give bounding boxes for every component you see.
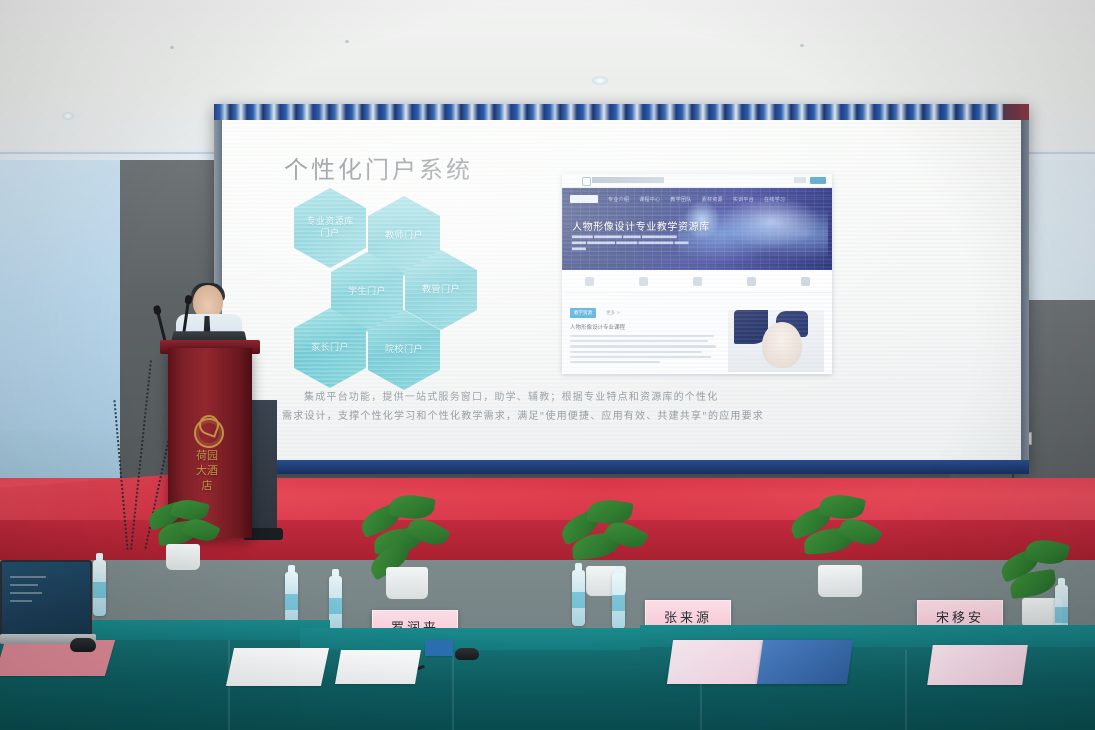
bottle-label — [612, 595, 625, 611]
screen-text-line — [10, 584, 38, 586]
website-screenshot: 专业介绍 课程中心 教学团队 素材资源 实训平台 在线学习 人物形像设计专业教学… — [562, 174, 832, 374]
bottle-label — [329, 598, 342, 614]
laptop-screen — [0, 560, 92, 640]
site-logo-icon — [582, 177, 591, 186]
website-header-bar — [562, 174, 832, 188]
document-sheet — [335, 650, 421, 684]
computer-mouse — [455, 648, 479, 660]
document-sheet — [425, 640, 453, 656]
nameplate-text: 宋移安 — [936, 607, 984, 626]
hex-label: 家长门户 — [303, 342, 357, 354]
quicklink-icon — [801, 277, 810, 286]
water-bottle — [329, 576, 342, 632]
slide-body-line-1: 集成平台功能，提供一站式服务窗口，助学、辅教；根据专业特点和资源库的个性化 — [282, 388, 962, 407]
presentation-slide: 个性化门户系统 专业资源库门户 教师门户 学生门户 教管门户 家长门户 院校门户 — [222, 120, 1021, 460]
quicklink-icon — [585, 277, 594, 286]
hero-headline: 人物形像设计专业教学资源库 — [572, 218, 710, 233]
card-body-lines — [570, 335, 720, 363]
nav-item: 实训平台 — [733, 196, 754, 203]
website-content-card: 教学资源 更多 > 人物形像设计专业课程 — [562, 293, 832, 374]
nav-item: 在线学习 — [764, 196, 785, 203]
screen-bottom-frame — [214, 460, 1029, 474]
document-booklet — [670, 640, 762, 684]
nameplate-text: 张来源 — [664, 607, 712, 626]
site-login-button — [810, 177, 826, 184]
website-nav: 专业介绍 课程中心 教学团队 素材资源 实训平台 在线学习 — [570, 195, 785, 203]
bottle-label — [93, 582, 106, 598]
slide-body-text: 集成平台功能，提供一站式服务窗口，助学、辅教；根据专业特点和资源库的个性化 需求… — [282, 388, 962, 426]
website-quicklink-icons — [562, 270, 832, 293]
hex-label: 学生门户 — [340, 286, 394, 298]
bottle-label — [285, 594, 298, 610]
hotel-logo-icon — [194, 418, 224, 448]
slide-title: 个性化门户系统 — [284, 150, 473, 185]
website-hero-banner: 专业介绍 课程中心 教学团队 素材资源 实训平台 在线学习 人物形像设计专业教学… — [562, 188, 832, 270]
portrait-face — [762, 322, 802, 368]
card-title: 人物形像设计专业课程 — [570, 323, 720, 331]
nav-item: 教学团队 — [670, 196, 691, 203]
ceiling-fixture-dot — [800, 44, 804, 47]
slide-body-line-2: 需求设计，支撑个性化学习和个性化教学需求，满足"使用便捷、应用有效、共建共享"的… — [282, 407, 962, 426]
tablecloth-fold — [905, 650, 907, 730]
card-portrait-photo — [728, 310, 824, 372]
hex-label: 教管门户 — [414, 284, 468, 296]
quicklink-icon — [693, 277, 702, 286]
conference-photo-scene: 个性化门户系统 专业资源库门户 教师门户 学生门户 教管门户 家长门户 院校门户 — [0, 0, 1095, 730]
water-bottle — [572, 570, 585, 626]
nav-home-pill — [570, 195, 598, 203]
card-more-link: 更多 > — [606, 311, 620, 316]
document-sheet — [226, 648, 329, 686]
hero-subtext: ▄▄▄▄▄▄ ▄▄▄▄▄▄▄▄ ▄▄▄▄▄ ▄▄▄▄▄▄▄▄▄▄▄▄▄▄ ▄▄▄… — [572, 234, 732, 252]
screen-text-line — [10, 576, 46, 578]
ceiling-spotlight — [62, 112, 74, 120]
ceiling-fixture-dot — [345, 40, 349, 43]
podium-venue-name: 荷园大酒店 — [196, 448, 218, 493]
hex-label: 专业资源库门户 — [294, 216, 366, 240]
hex-label: 院校门户 — [377, 344, 431, 356]
plant-pot — [166, 544, 200, 570]
nav-item: 素材资源 — [702, 196, 723, 203]
nav-item: 课程中心 — [639, 196, 660, 203]
portal-hexagon-diagram: 专业资源库门户 教师门户 学生门户 教管门户 家长门户 院校门户 — [284, 188, 474, 378]
hex-label: 教师门户 — [377, 230, 431, 242]
booklet-cover-pink — [667, 640, 765, 684]
tablecloth-fold — [452, 652, 454, 730]
plant-pot — [386, 567, 428, 599]
booklet-cover-blue — [757, 640, 853, 684]
document-sheet — [927, 645, 1028, 685]
screen-text-line — [10, 600, 32, 602]
site-name-bar — [592, 177, 664, 183]
screen-text-line — [10, 592, 42, 594]
quicklink-icon — [639, 277, 648, 286]
quicklink-icon — [747, 277, 756, 286]
hex-cell-professional-resource-portal: 专业资源库门户 — [294, 188, 366, 268]
desk-pad — [0, 640, 115, 676]
water-bottle — [93, 560, 106, 616]
site-secondary-button — [794, 177, 806, 183]
screen-top-reflective-strip — [214, 104, 1029, 120]
ceiling-fixture-dot — [170, 46, 174, 49]
nav-item: 专业介绍 — [608, 196, 629, 203]
bottle-label — [572, 592, 585, 608]
ceiling-spotlight — [592, 76, 608, 85]
bottle-label — [1055, 607, 1068, 623]
plant-pot — [818, 565, 862, 597]
card-tag: 教学资源 — [570, 308, 596, 318]
water-bottle — [612, 573, 625, 629]
document-booklet — [760, 640, 850, 684]
computer-mouse — [70, 638, 96, 652]
